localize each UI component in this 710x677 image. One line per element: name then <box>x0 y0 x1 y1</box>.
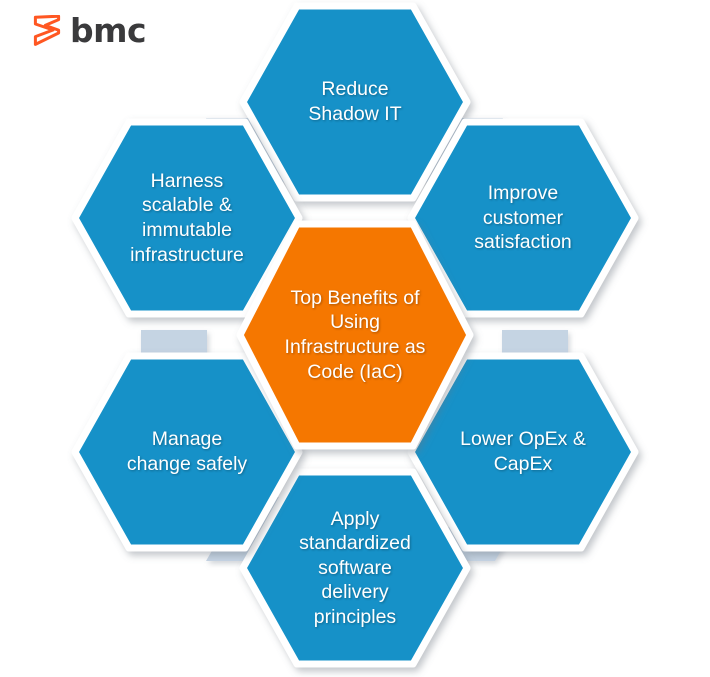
iac-benefits-hexagon-diagram: Reduce Shadow IT Improve customer satisf… <box>0 0 710 677</box>
